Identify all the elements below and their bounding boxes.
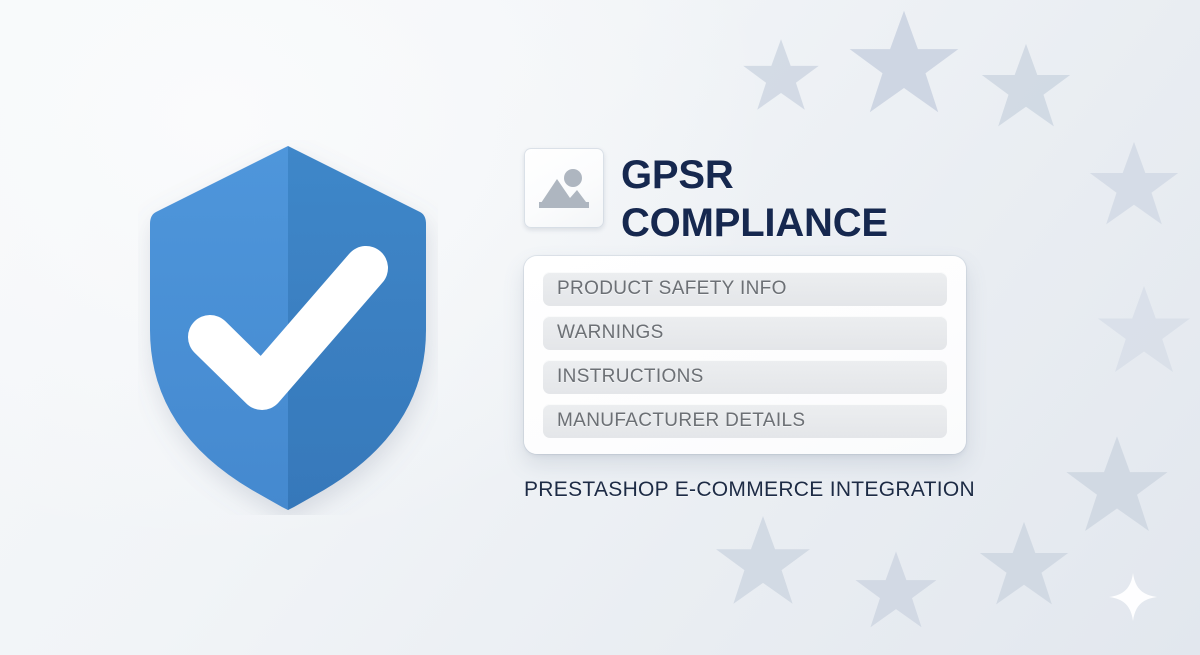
background-star — [1086, 138, 1182, 234]
sparkle-icon — [1108, 572, 1158, 627]
background-star — [740, 36, 822, 118]
promo-banner: GPSR COMPLIANCE MODULE PRODUCT SAFETY IN… — [0, 0, 1200, 655]
list-item-label: WARNINGS — [557, 322, 664, 344]
list-item[interactable]: PRODUCT SAFETY INFO — [543, 272, 947, 306]
background-star — [1062, 432, 1172, 542]
background-star — [978, 40, 1074, 136]
list-item-label: MANUFACTURER DETAILS — [557, 410, 805, 432]
background-star — [852, 548, 940, 636]
list-item[interactable]: MANUFACTURER DETAILS — [543, 404, 947, 438]
list-item-label: INSTRUCTIONS — [557, 366, 704, 388]
footer-caption: PRESTASHOP E-COMMERCE INTEGRATION — [524, 478, 966, 502]
image-placeholder-icon — [524, 148, 604, 228]
list-item-label: PRODUCT SAFETY INFO — [557, 278, 787, 300]
shield-check-icon — [138, 140, 438, 515]
background-star — [845, 6, 963, 124]
list-item[interactable]: INSTRUCTIONS — [543, 360, 947, 394]
background-star — [1094, 282, 1194, 382]
background-star — [976, 518, 1072, 614]
background-star — [712, 512, 814, 614]
list-item[interactable]: WARNINGS — [543, 316, 947, 350]
feature-list-card: PRODUCT SAFETY INFO WARNINGS INSTRUCTION… — [524, 256, 966, 454]
